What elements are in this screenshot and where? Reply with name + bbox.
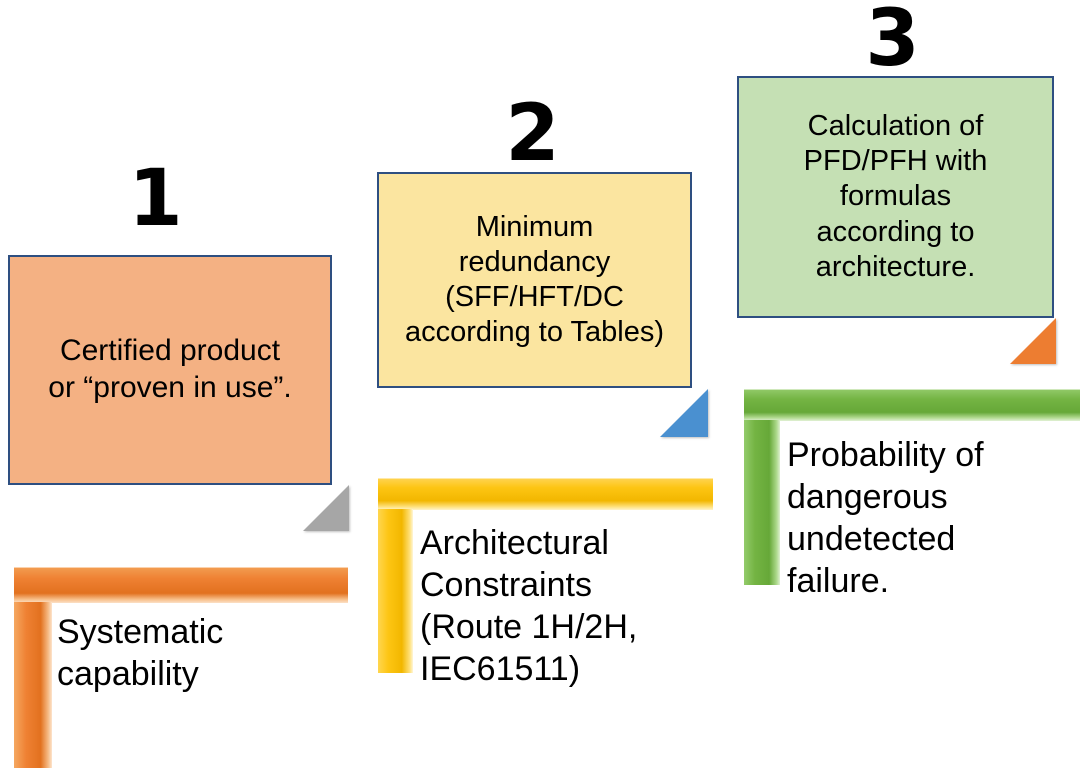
caption-1: Systematic capability [57, 611, 347, 695]
step-number-2: 2 [492, 95, 572, 173]
corner-marker-icon-3 [1010, 318, 1056, 364]
step-box-3-text: Calculation of PFD/PFH with formulas acc… [749, 109, 1042, 286]
caption-2: Architectural Constraints (Route 1H/2H, … [420, 522, 720, 691]
step-box-3[interactable]: Calculation of PFD/PFH with formulas acc… [737, 76, 1054, 318]
bracket-2-arm-horizontal [378, 478, 713, 510]
step-number-1: 1 [115, 160, 195, 238]
bracket-2-arm-vertical [378, 509, 413, 673]
step-box-1-text: Certified product or “proven in use”. [20, 333, 320, 406]
step-box-2-text: Minimum redundancy (SFF/HFT/DC according… [389, 210, 680, 349]
step-box-1[interactable]: Certified product or “proven in use”. [8, 255, 332, 485]
step-number-3: 3 [852, 0, 932, 78]
corner-marker-icon-1 [303, 485, 349, 531]
bracket-3-arm-horizontal [744, 389, 1080, 421]
caption-3: Probability of dangerous undetected fail… [787, 434, 1077, 603]
corner-marker-icon-2 [660, 389, 708, 437]
bracket-1-arm-vertical [14, 602, 52, 768]
step-box-2[interactable]: Minimum redundancy (SFF/HFT/DC according… [377, 172, 692, 388]
bracket-3-arm-vertical [744, 420, 780, 585]
bracket-1-arm-horizontal [14, 567, 348, 603]
diagram-canvas: 1 Certified product or “proven in use”. … [0, 0, 1082, 768]
